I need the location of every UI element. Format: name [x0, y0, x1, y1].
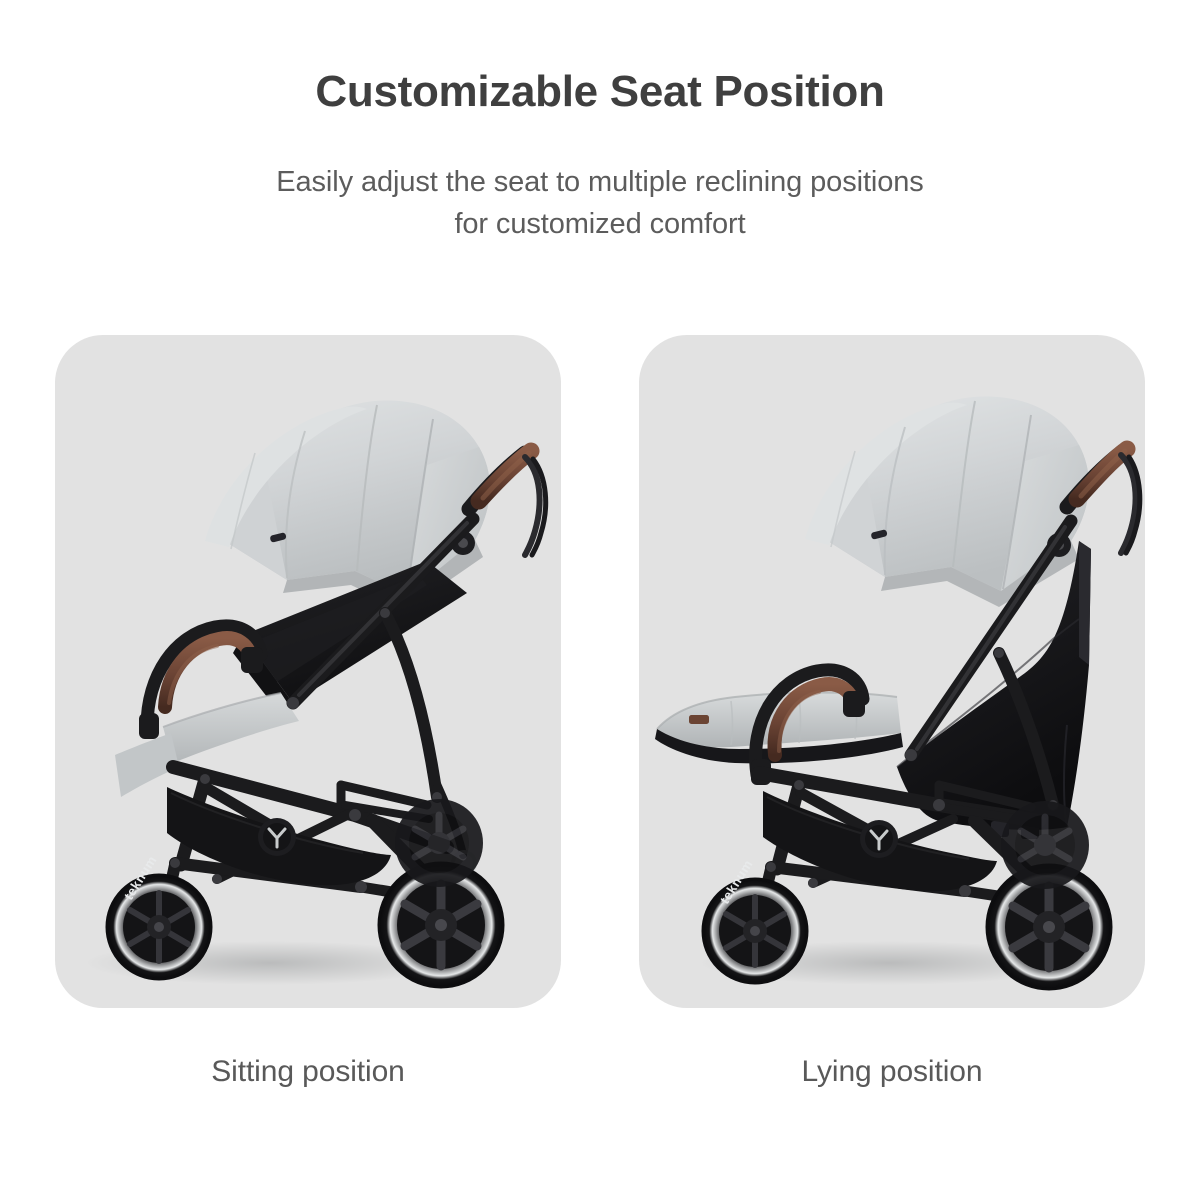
leather-label-tag [689, 715, 709, 724]
caption-lying-position: Lying position [639, 1055, 1145, 1125]
caption-sitting-position: Sitting position [55, 1055, 561, 1125]
infographic-page: Customizable Seat Position Easily adjust… [0, 0, 1200, 1200]
rear-wheel-secondary [395, 799, 483, 887]
page-title: Customizable Seat Position [0, 68, 1200, 116]
stroller-lying-illustration: teknum [639, 335, 1145, 1008]
panel-sitting-position: teknum [55, 335, 561, 1008]
subtitle-line-2: for customized comfort [0, 204, 1200, 245]
canopy [805, 397, 1089, 607]
rear-wheel-secondary [1001, 801, 1089, 889]
page-subtitle: Easily adjust the seat to multiple recli… [0, 162, 1200, 244]
stroller-sitting-illustration: teknum [55, 335, 561, 1008]
product-image-panels: teknum [55, 335, 1145, 1008]
seat-pad [163, 693, 299, 763]
fold-hub [860, 820, 898, 858]
panel-lying-position: teknum [639, 335, 1145, 1008]
panel-captions: Sitting position Lying position [55, 1055, 1145, 1125]
subtitle-line-1: Easily adjust the seat to multiple recli… [0, 162, 1200, 203]
fold-hub [258, 818, 296, 856]
header: Customizable Seat Position Easily adjust… [0, 0, 1200, 245]
